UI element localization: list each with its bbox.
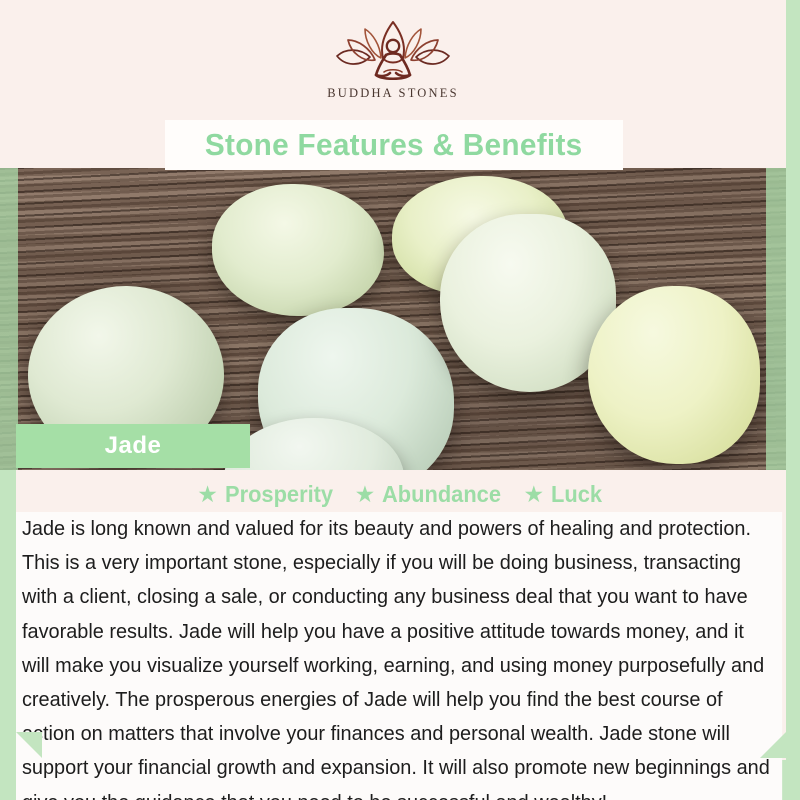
star-icon: ★ [523, 483, 544, 506]
page-title: Stone Features & Benefits [205, 127, 583, 163]
benefit-label: Luck [551, 481, 602, 508]
stone-6 [588, 286, 760, 464]
benefit-label: Abundance [382, 481, 501, 508]
stone-name: Jade [105, 432, 162, 460]
stone-description: Jade is long known and valued for its be… [16, 512, 782, 800]
stone-name-banner: Jade [16, 424, 250, 468]
lotus-meditation-icon [334, 20, 452, 82]
brand-name: BUDDHA STONES [327, 86, 459, 101]
benefits-row: ★ Prosperity ★ Abundance ★ Luck [16, 478, 786, 510]
frame-band-right [786, 0, 800, 800]
brand-header: BUDDHA STONES [0, 0, 786, 120]
title-banner: Stone Features & Benefits [165, 120, 623, 170]
benefit-item-luck: ★ Luck [523, 481, 604, 508]
benefit-item-abundance: ★ Abundance [355, 481, 508, 508]
star-icon: ★ [355, 483, 376, 506]
corner-wedge-bottom-left [16, 732, 42, 758]
benefit-item-prosperity: ★ Prosperity [197, 481, 338, 508]
star-icon: ★ [197, 483, 218, 506]
stone-2 [212, 184, 384, 316]
benefit-label: Prosperity [225, 481, 333, 508]
corner-wedge-bottom-right [760, 732, 786, 758]
photo-edge-overlay-right [766, 168, 786, 470]
